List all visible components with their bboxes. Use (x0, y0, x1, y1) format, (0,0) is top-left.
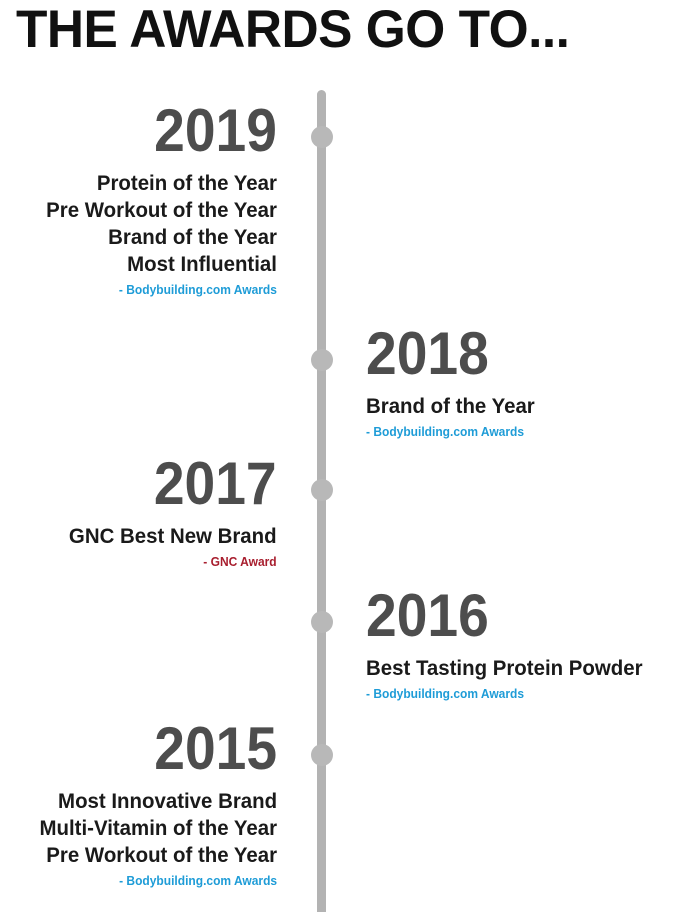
award-attribution: - Bodybuilding.com Awards (366, 425, 537, 440)
award-item: GNC Best New Brand (69, 523, 277, 550)
award-item: Protein of the Year (46, 170, 277, 197)
award-attribution: - Bodybuilding.com Awards (366, 687, 645, 702)
award-item: Brand of the Year (46, 224, 277, 251)
year-label-2017: 2017 (76, 454, 277, 514)
award-list-2017: GNC Best New Brand (58, 523, 277, 550)
award-attribution: - GNC Award (67, 555, 277, 570)
award-item: Pre Workout of the Year (46, 197, 277, 224)
timeline-entry-2019: 2019Protein of the YearPre Workout of th… (34, 101, 277, 298)
award-item: Best Tasting Protein Powder (366, 655, 643, 682)
year-label-2016: 2016 (366, 586, 634, 646)
award-list-2015: Most Innovative BrandMulti-Vitamin of th… (27, 788, 277, 869)
award-list-2019: Protein of the YearPre Workout of the Ye… (34, 170, 277, 278)
award-attribution: - Bodybuilding.com Awards (44, 283, 277, 298)
year-label-2019: 2019 (53, 101, 277, 161)
award-item: Most Influential (46, 251, 277, 278)
award-list-2016: Best Tasting Protein Powder (366, 655, 657, 682)
award-item: Brand of the Year (366, 393, 535, 420)
year-label-2015: 2015 (47, 719, 277, 779)
awards-timeline-page: THE AWARDS GO TO... 2019Protein of the Y… (0, 0, 679, 912)
page-title: THE AWARDS GO TO... (16, 1, 645, 59)
timeline-node-2015 (311, 744, 333, 766)
award-item: Multi-Vitamin of the Year (39, 815, 277, 842)
timeline-node-2016 (311, 611, 333, 633)
timeline-node-2018 (311, 349, 333, 371)
timeline-spine (317, 90, 326, 912)
timeline-node-2017 (311, 479, 333, 501)
timeline-node-2019 (311, 126, 333, 148)
timeline-entry-2015: 2015Most Innovative BrandMulti-Vitamin o… (27, 719, 277, 889)
award-list-2018: Brand of the Year (366, 393, 544, 420)
award-attribution: - Bodybuilding.com Awards (37, 874, 277, 889)
timeline-entry-2018: 2018Brand of the Year- Bodybuilding.com … (366, 324, 544, 440)
timeline-entry-2017: 2017GNC Best New Brand- GNC Award (58, 454, 277, 570)
award-item: Pre Workout of the Year (39, 842, 277, 869)
timeline-entry-2016: 2016Best Tasting Protein Powder- Bodybui… (366, 586, 657, 702)
year-label-2018: 2018 (366, 324, 529, 384)
award-item: Most Innovative Brand (39, 788, 277, 815)
